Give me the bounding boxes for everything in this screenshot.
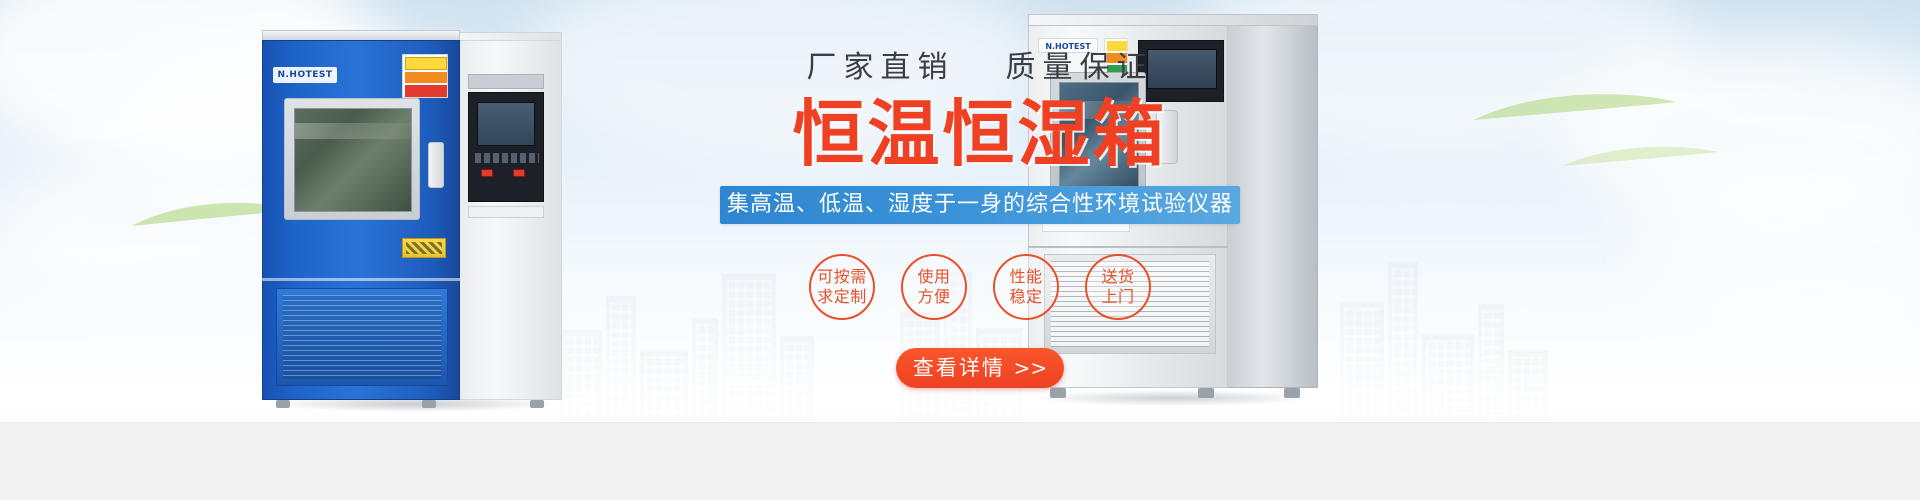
- leaf-swoosh-icon: [1560, 140, 1720, 174]
- control-panel: [468, 92, 544, 202]
- tagline-left: 厂家直销: [806, 50, 954, 85]
- badge-line-1: 使用: [917, 267, 950, 287]
- badge-line-2: 上门: [1101, 287, 1134, 307]
- subtitle-band: 集高温、低温、湿度于一身的综合性环境试验仪器: [720, 186, 1240, 224]
- warning-label: [402, 54, 448, 98]
- badge-line-2: 稳定: [1009, 287, 1042, 307]
- indicator-led: [481, 169, 493, 177]
- banner-text-block: 厂家直销 质量保证 恒温恒湿箱 集高温、低温、湿度于一身的综合性环境试验仪器 可…: [700, 42, 1260, 388]
- badge-line-2: 求定制: [817, 287, 867, 307]
- badge-line-1: 可按需: [817, 267, 867, 287]
- leaf-swoosh-icon: [1470, 86, 1680, 132]
- chamber-feet: [1028, 388, 1318, 398]
- chamber-window-frame: [284, 98, 420, 220]
- promo-banner: N.HOTEST N.HOTEST 恒温恒: [0, 0, 1920, 500]
- ventilation-grille: [276, 288, 448, 386]
- panel-divider: [262, 278, 460, 281]
- chamber-window-glass: [294, 108, 412, 212]
- feature-badge-stable[interactable]: 性能 稳定: [993, 254, 1059, 320]
- control-display-screen: [477, 102, 535, 146]
- panel-name-plate: [468, 74, 544, 89]
- product-image-left: N.HOTEST: [262, 26, 562, 404]
- badge-line-1: 性能: [1009, 267, 1042, 287]
- spec-sticker: [468, 206, 544, 218]
- bottom-band: [0, 422, 1920, 500]
- feature-badge-list: 可按需 求定制 使用 方便 性能 稳定 送货 上门: [700, 254, 1260, 320]
- cta-label: 查看详情: [913, 356, 1005, 380]
- feature-badge-easy-use[interactable]: 使用 方便: [901, 254, 967, 320]
- brand-logo: N.HOTEST: [273, 67, 337, 83]
- feature-badge-delivery[interactable]: 送货 上门: [1085, 254, 1151, 320]
- hazard-sticker: [402, 238, 446, 258]
- indicator-led: [513, 169, 525, 177]
- tagline: 厂家直销 质量保证: [700, 42, 1260, 86]
- control-button-row: [475, 153, 539, 163]
- page-title: 恒温恒湿箱: [700, 96, 1260, 174]
- chamber-feet: [262, 400, 562, 408]
- door-handle: [428, 142, 444, 188]
- cta-arrow-icon: >>: [1014, 356, 1048, 380]
- tagline-right: 质量保证: [1006, 50, 1154, 85]
- chamber-top-cap: [1028, 14, 1318, 26]
- badge-line-1: 送货: [1101, 267, 1134, 287]
- badge-line-2: 方便: [917, 287, 950, 307]
- view-details-button[interactable]: 查看详情 >>: [896, 348, 1064, 388]
- feature-badge-custom[interactable]: 可按需 求定制: [809, 254, 875, 320]
